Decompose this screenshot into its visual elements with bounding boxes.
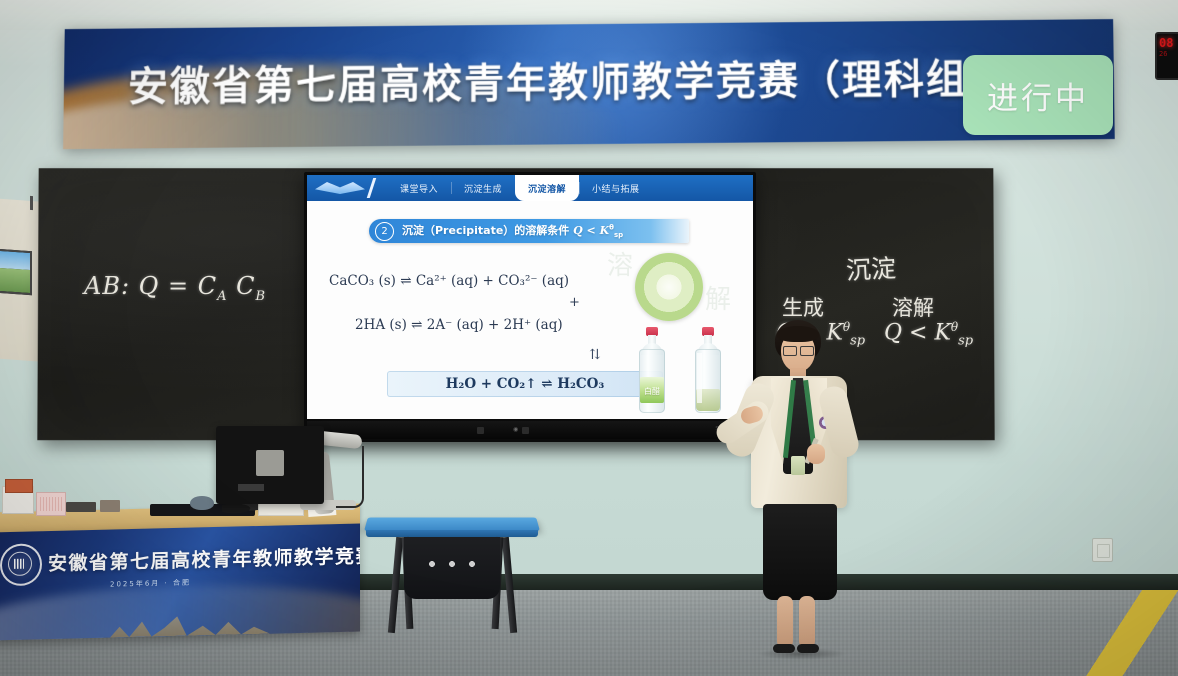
podium-subtitle: 2025年6月 · 合肥 [110,578,191,590]
chalk-expr-dissolution-sup: θ [951,320,958,334]
desk-box-pink [36,492,66,516]
presenter-shoe-left [773,644,795,653]
equation-plus: + [569,295,580,310]
slide-title-cn: 沉淀（Precipitate）的溶解条件 [402,224,569,237]
chalk-heading-precipitate: 沉淀 [845,249,897,288]
smart-display[interactable]: 课堂导入 沉淀生成 沉淀溶解 小结与拓展 2 沉淀（Precipitate）的溶… [304,172,756,442]
book-icon-shape [315,182,365,194]
monitor-cable [336,446,364,508]
cucumber-slice-image [635,253,703,321]
chalk-left-sub-b: B [255,289,266,304]
equation-highlight-box: H₂O + CO₂↑ ⇌ H₂CO₃ [387,371,663,397]
vinegar-bottle-left: 白醋 [637,327,667,413]
equation-updown-arrow: ⇅ [589,347,601,363]
presenter-hand-left [739,404,765,425]
classroom-screenshot: 安徽省第七届高校青年教师教学竞赛（理科组） 进行中 08 26 AB: Q = … [0,0,1178,676]
equation-ha: 2HA (s) ⇌ 2A⁻ (aq) + 2H⁺ (aq) [355,317,563,333]
bezel-brand-center: ◉ [513,426,518,433]
vesa-mount [256,450,284,476]
wall-picture-frame [0,249,32,295]
slide-topbar: 课堂导入 沉淀生成 沉淀溶解 小结与拓展 [307,175,753,201]
slide-title-ribbon: 2 沉淀（Precipitate）的溶解条件 Q < Kθsp [369,219,689,243]
competition-banner: 安徽省第七届高校青年教师教学竞赛（理科组） [63,19,1115,149]
picture-sky [0,251,30,270]
desk-box-lid [5,479,33,493]
desk-paper [258,502,304,516]
slide-title-number: 2 [375,222,394,241]
mouse[interactable] [190,496,214,510]
chalk-label-dissolution: 溶解 [892,292,934,322]
panel-clip [30,196,33,210]
tab-precipitate-dissolution[interactable]: 沉淀溶解 [515,175,579,201]
slide-title-text: 沉淀（Precipitate）的溶解条件 Q < Kθsp [402,222,623,239]
display-bezel: ◉ SMART [307,421,753,439]
chalk-left-c: C [227,272,255,300]
presenter-teacher [733,320,859,654]
bottle-label-text: 白醋 [640,386,664,397]
chalk-expr-dissolution-text: Q < K [884,320,951,345]
folding-table-top [364,517,540,530]
slide-title-q: Q < [573,224,599,237]
equation-caco3: CaCO₃ (s) ⇌ Ca²⁺ (aq) + CO₃²⁻ (aq) [329,273,569,289]
logo-slash [367,178,376,198]
presenter-skirt [763,504,837,600]
led-clock-date: 26 [1157,50,1178,59]
picture-ground [0,268,30,293]
banner-title: 安徽省第七届高校青年教师教学竞赛（理科组） [64,45,1075,113]
presenter-monitor[interactable] [216,426,324,504]
slide-title-k-sub: sp [614,232,623,240]
slide-watermark-1: 溶 [607,245,633,282]
slide-watermark-2: 解 [705,279,731,316]
slide-title-k: K [600,224,610,237]
chalk-expr-dissolution-sub: sp [958,334,973,349]
chalk-note-left: AB: Q = CA CB [84,272,266,304]
bottle-sheen [697,353,702,403]
presenter-leg-left [777,596,793,648]
wall-outlet [1092,538,1113,562]
table-modesty-panel [404,537,500,599]
bottle-label: 白醋 [640,377,664,403]
book-icon [315,179,377,197]
status-badge: 进行中 [963,55,1113,135]
tab-intro[interactable]: 课堂导入 [387,175,451,201]
presentation-slide: 课堂导入 沉淀生成 沉淀溶解 小结与拓展 2 沉淀（Precipitate）的溶… [307,175,753,419]
led-clock-time: 08 [1157,34,1178,50]
led-clock: 08 26 [1155,32,1178,80]
presenter-id-badge [791,456,805,475]
slide-title-k-sup: θ [609,224,614,232]
desk-box-lines [40,497,62,511]
folding-table-edge [366,530,538,537]
slide-tabs[interactable]: 课堂导入 沉淀生成 沉淀溶解 小结与拓展 [387,175,653,201]
university-emblem-icon [0,543,42,586]
tab-precipitate-formation[interactable]: 沉淀生成 [451,175,515,201]
monitor-label [238,484,264,491]
presenter-shoe-right [797,644,819,653]
presenter-leg-right [799,596,815,648]
bezel-button-2[interactable] [522,427,529,434]
chalk-expr-dissolution: Q < Kθsp [884,320,973,349]
chalk-label-formation: 生成 [782,292,824,322]
glasses-icon [783,346,814,354]
chalk-left-text: AB: Q = C [84,272,217,300]
bezel-button-1[interactable] [477,427,484,434]
table-panel-dots [425,561,479,568]
presenter-hand-right [807,444,825,464]
tab-summary-extension[interactable]: 小结与拓展 [579,175,653,201]
presenter-hair-front [777,326,819,342]
vinegar-bottle-right [693,327,723,413]
desk-tray [66,502,96,512]
desk-block [100,500,120,512]
chalk-left-sub-a: A [217,289,227,304]
desk-box-white [2,486,34,514]
podium-front-banner: 安徽省第七届高校青年教师教学竞赛 2025年6月 · 合肥 [0,523,360,640]
podium-title: 安徽省第七届高校青年教师教学竞赛 [48,541,360,576]
equation-h2co3: H₂O + CO₂↑ ⇌ H₂CO₃ [446,376,605,392]
